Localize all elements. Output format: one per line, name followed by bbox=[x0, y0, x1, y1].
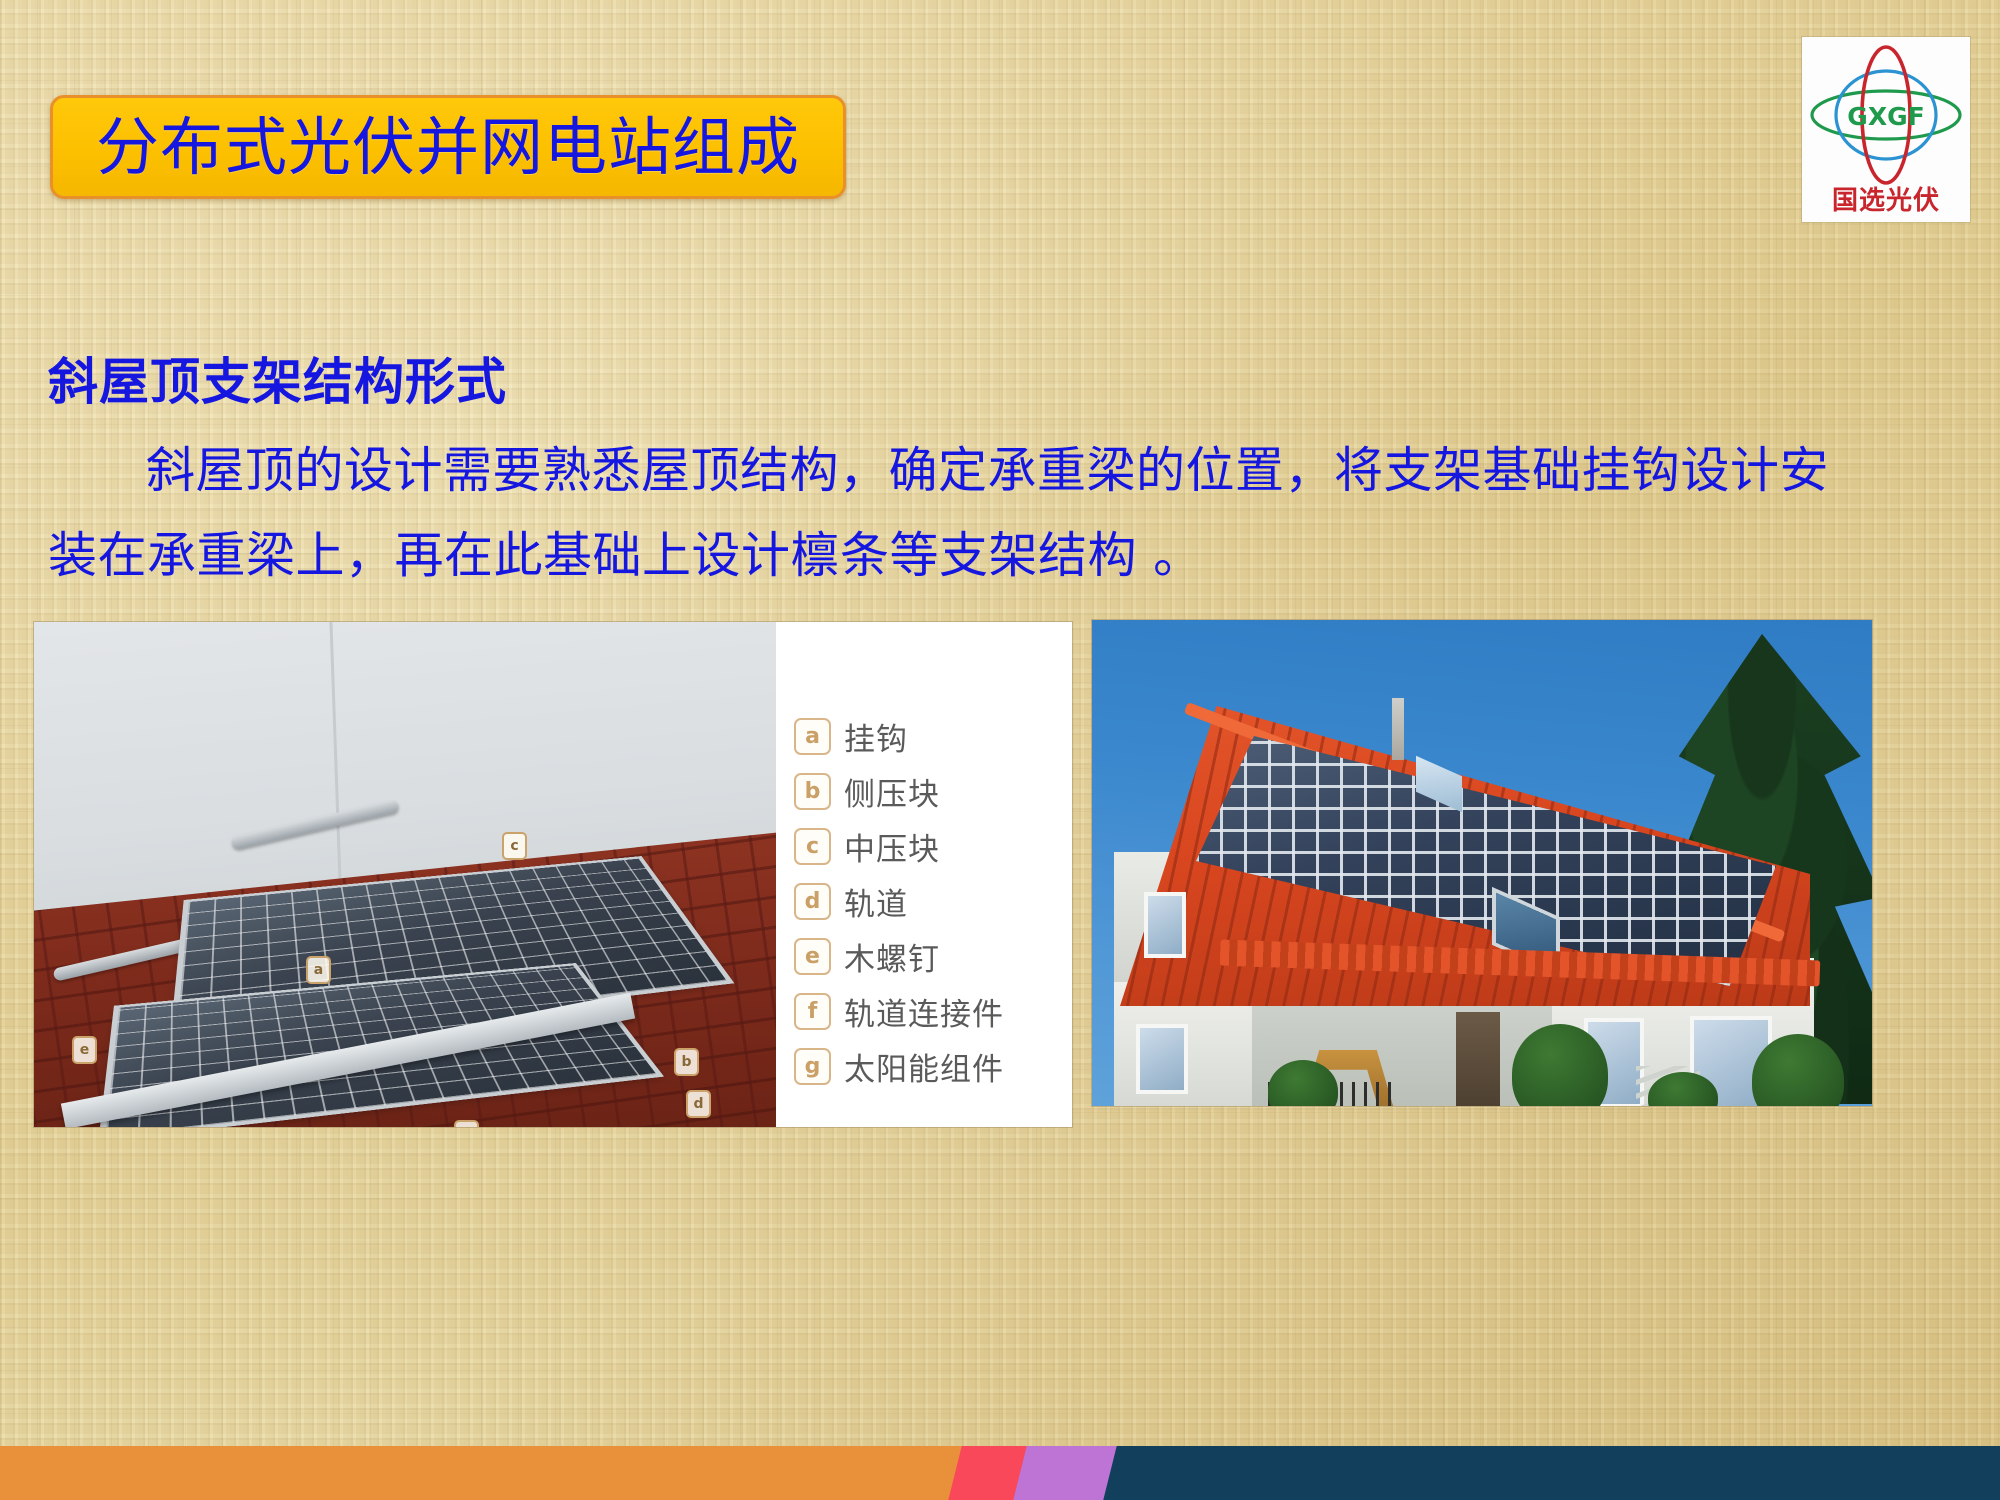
legend-item-b: b侧压块 bbox=[794, 769, 940, 814]
footer-decoration-bar bbox=[0, 1446, 2000, 1500]
legend-badge-f: f bbox=[794, 993, 831, 1030]
window-gable bbox=[1144, 892, 1186, 958]
component-legend: a挂钩b侧压块c中压块d轨道e木螺钉f轨道连接件g太阳能组件 bbox=[776, 622, 1072, 1127]
legend-label-b: 侧压块 bbox=[844, 769, 940, 814]
legend-item-c: c中压块 bbox=[794, 824, 940, 869]
legend-item-f: f轨道连接件 bbox=[794, 989, 1004, 1034]
legend-item-d: d轨道 bbox=[794, 879, 908, 924]
legend-label-c: 中压块 bbox=[844, 824, 940, 869]
photo-callout-b: b bbox=[674, 1048, 699, 1076]
slide-canvas: 分布式光伏并网电站组成 GXGF 国选光伏 斜屋顶支架结构形式 斜屋顶的设计需要… bbox=[0, 0, 2000, 1500]
legend-badge-b: b bbox=[794, 773, 831, 810]
legend-badge-d: d bbox=[794, 883, 831, 920]
legend-item-a: a挂钩 bbox=[794, 714, 908, 759]
body-paragraph: 斜屋顶的设计需要熟悉屋顶结构，确定承重梁的位置，将支架基础挂钩设计安 装在承重梁… bbox=[48, 428, 1960, 599]
wall-seam bbox=[329, 622, 341, 882]
window-lower-left bbox=[1136, 1024, 1188, 1094]
logo-globe-icon: GXGF 国选光伏 bbox=[1802, 37, 1970, 222]
photo-rooftop-mounting-detail: caebdg a挂钩b侧压块c中压块d轨道e木螺钉f轨道连接件g太阳能组件 bbox=[34, 622, 1072, 1127]
photo-callout-a: a bbox=[306, 956, 331, 984]
paragraph-line-1-text: 斜屋顶的设计需要熟悉屋顶结构，确定承重梁的位置，将支架基础挂钩设计安 bbox=[146, 442, 1829, 499]
legend-label-a: 挂钩 bbox=[844, 714, 908, 759]
paragraph-line-2: 装在承重梁上，再在此基础上设计檩条等支架结构 。 bbox=[48, 513, 1960, 598]
photo-callout-e: e bbox=[72, 1036, 97, 1064]
chimney bbox=[1392, 698, 1404, 760]
legend-label-f: 轨道连接件 bbox=[844, 989, 1004, 1034]
photo-callout-c: c bbox=[502, 832, 527, 860]
photo-residential-pv-house bbox=[1092, 620, 1872, 1106]
legend-item-e: e木螺钉 bbox=[794, 934, 940, 979]
section-heading: 斜屋顶支架结构形式 bbox=[48, 342, 507, 414]
company-logo: GXGF 国选光伏 bbox=[1802, 37, 1970, 222]
mounting-rail-upper bbox=[231, 799, 400, 850]
legend-label-g: 太阳能组件 bbox=[844, 1044, 1004, 1089]
footer-band-purple bbox=[1013, 1446, 1116, 1500]
photo-callout-d: d bbox=[686, 1090, 711, 1118]
footer-band-navy bbox=[1065, 1446, 2000, 1500]
front-door bbox=[1456, 1012, 1500, 1106]
page-title: 分布式光伏并网电站组成 bbox=[96, 116, 800, 179]
legend-badge-e: e bbox=[794, 938, 831, 975]
legend-badge-c: c bbox=[794, 828, 831, 865]
footer-band-orange bbox=[0, 1446, 1000, 1500]
paragraph-line-1: 斜屋顶的设计需要熟悉屋顶结构，确定承重梁的位置，将支架基础挂钩设计安 bbox=[48, 428, 1960, 513]
legend-label-e: 木螺钉 bbox=[844, 934, 940, 979]
logo-acronym: GXGF bbox=[1847, 102, 1924, 131]
legend-item-g: g太阳能组件 bbox=[794, 1044, 1004, 1089]
mounting-photo-scene: caebdg bbox=[34, 622, 776, 1127]
legend-label-d: 轨道 bbox=[844, 879, 908, 924]
logo-company-name: 国选光伏 bbox=[1832, 186, 1940, 216]
legend-badge-a: a bbox=[794, 718, 831, 755]
photo-callout-g: g bbox=[454, 1120, 479, 1127]
legend-badge-g: g bbox=[794, 1048, 831, 1085]
slide-title-banner: 分布式光伏并网电站组成 bbox=[50, 95, 846, 199]
